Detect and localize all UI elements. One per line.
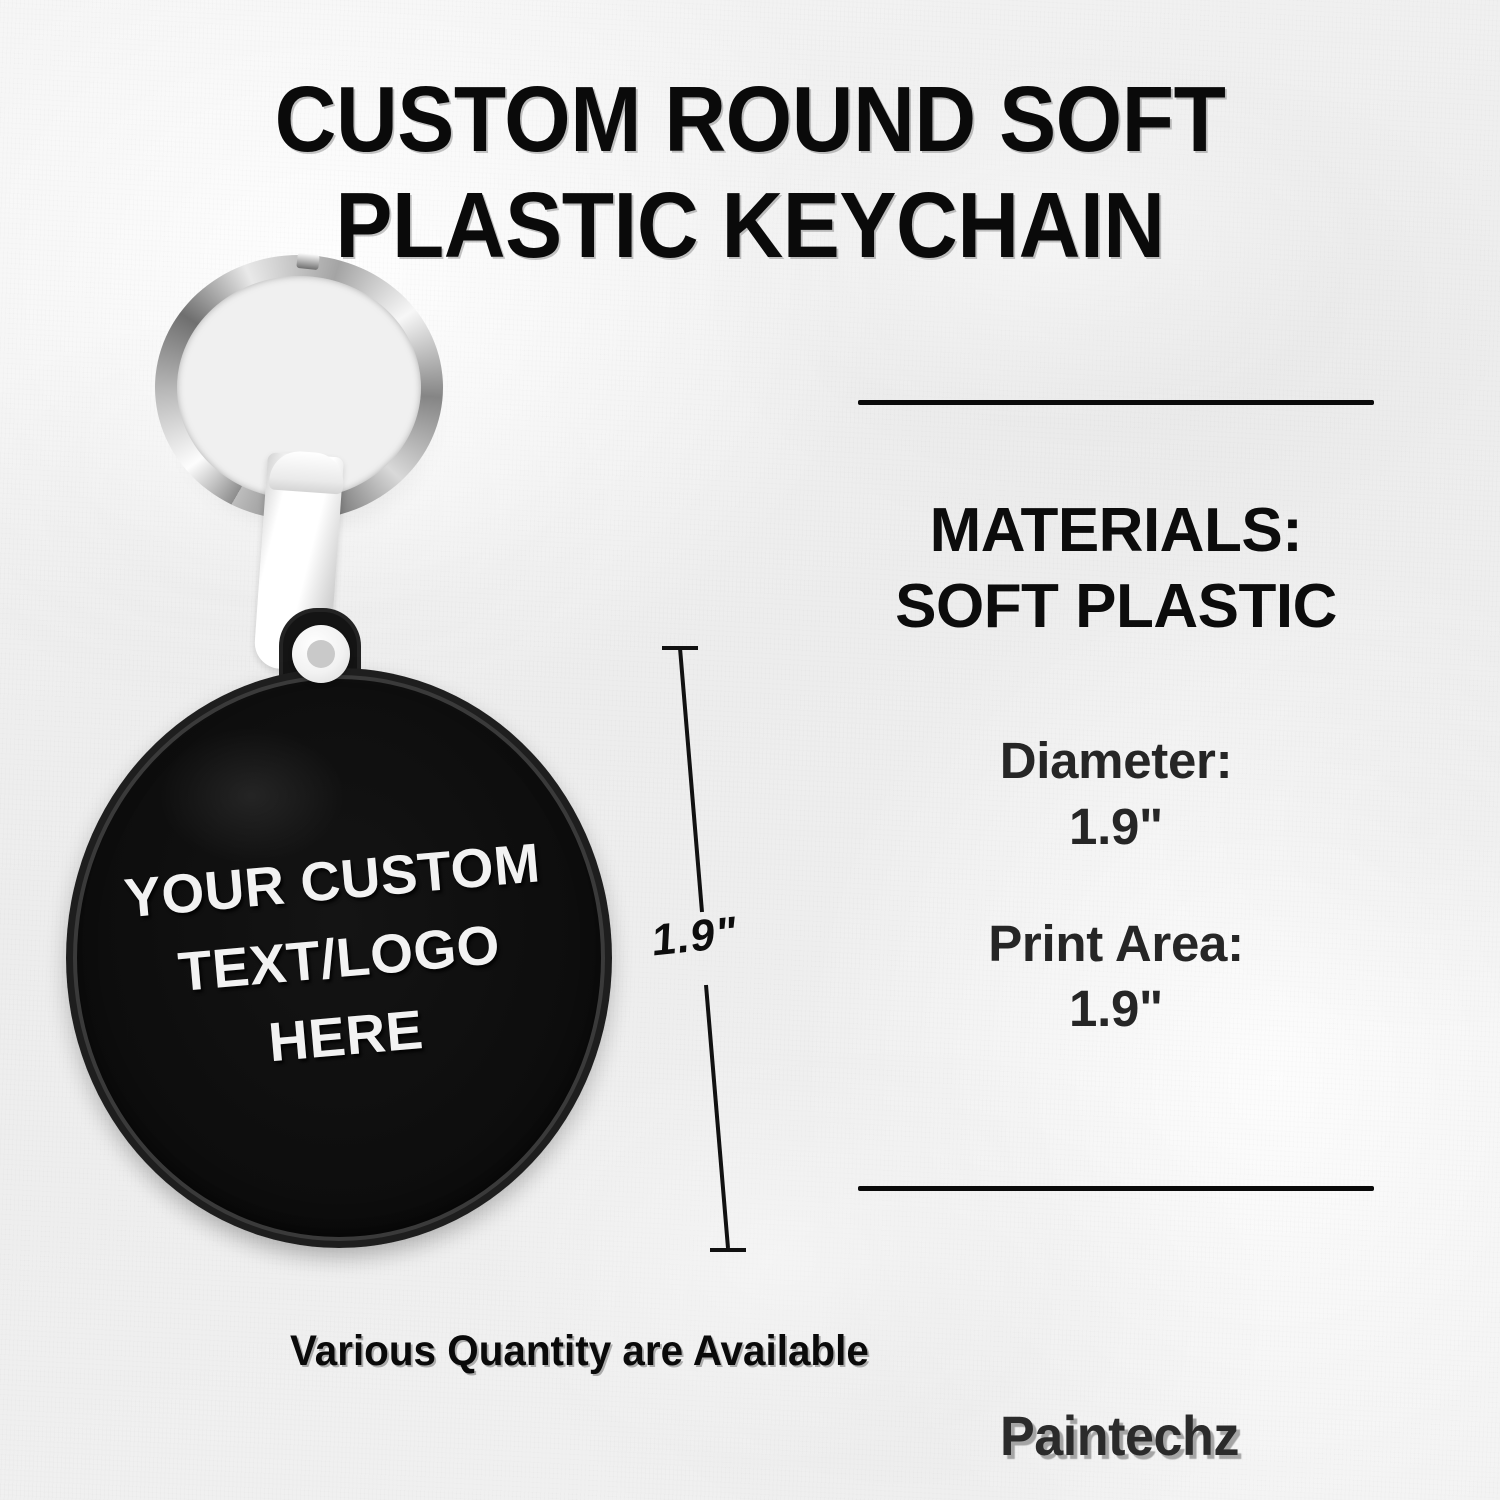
dimension-indicator: 1.9" [640,640,780,1260]
materials-label: MATERIALS: [858,493,1374,569]
tag-grommet-hole [307,640,335,668]
spec-divider-bottom [858,1186,1374,1191]
quantity-note: Various Quantity are Available [290,1327,869,1376]
spec-rows: Diameter: 1.9" Print Area: 1.9" [858,728,1374,1041]
materials-heading: MATERIALS: SOFT PLASTIC [858,493,1374,644]
spec-panel: MATERIALS: SOFT PLASTIC Diameter: 1.9" P… [858,400,1374,1041]
spec-row: Print Area: 1.9" [858,911,1374,1042]
tag-text-line-3: HERE [265,990,426,1081]
spec-divider-top [858,400,1374,405]
infographic-canvas: CUSTOM ROUND SOFT PLASTIC KEYCHAIN YOUR … [0,0,1500,1500]
spec-row: Diameter: 1.9" [858,728,1374,859]
tag-custom-text: YOUR CUSTOM TEXT/LOGO HERE [42,645,636,1270]
spec-value-print-area: 1.9" [858,976,1374,1041]
spec-key-diameter: Diameter: [858,728,1374,793]
page-title-line-1: CUSTOM ROUND SOFT [60,66,1440,172]
spec-divider-bottom-wrap [858,1186,1374,1191]
page-title: CUSTOM ROUND SOFT PLASTIC KEYCHAIN [60,66,1440,278]
materials-value: SOFT PLASTIC [858,569,1374,645]
brand-logo: Paintechz [1000,1403,1239,1468]
spec-key-print-area: Print Area: [858,911,1374,976]
dimension-label: 1.9" [651,907,739,967]
key-ring-split-notch [296,253,319,270]
spec-value-diameter: 1.9" [858,794,1374,859]
